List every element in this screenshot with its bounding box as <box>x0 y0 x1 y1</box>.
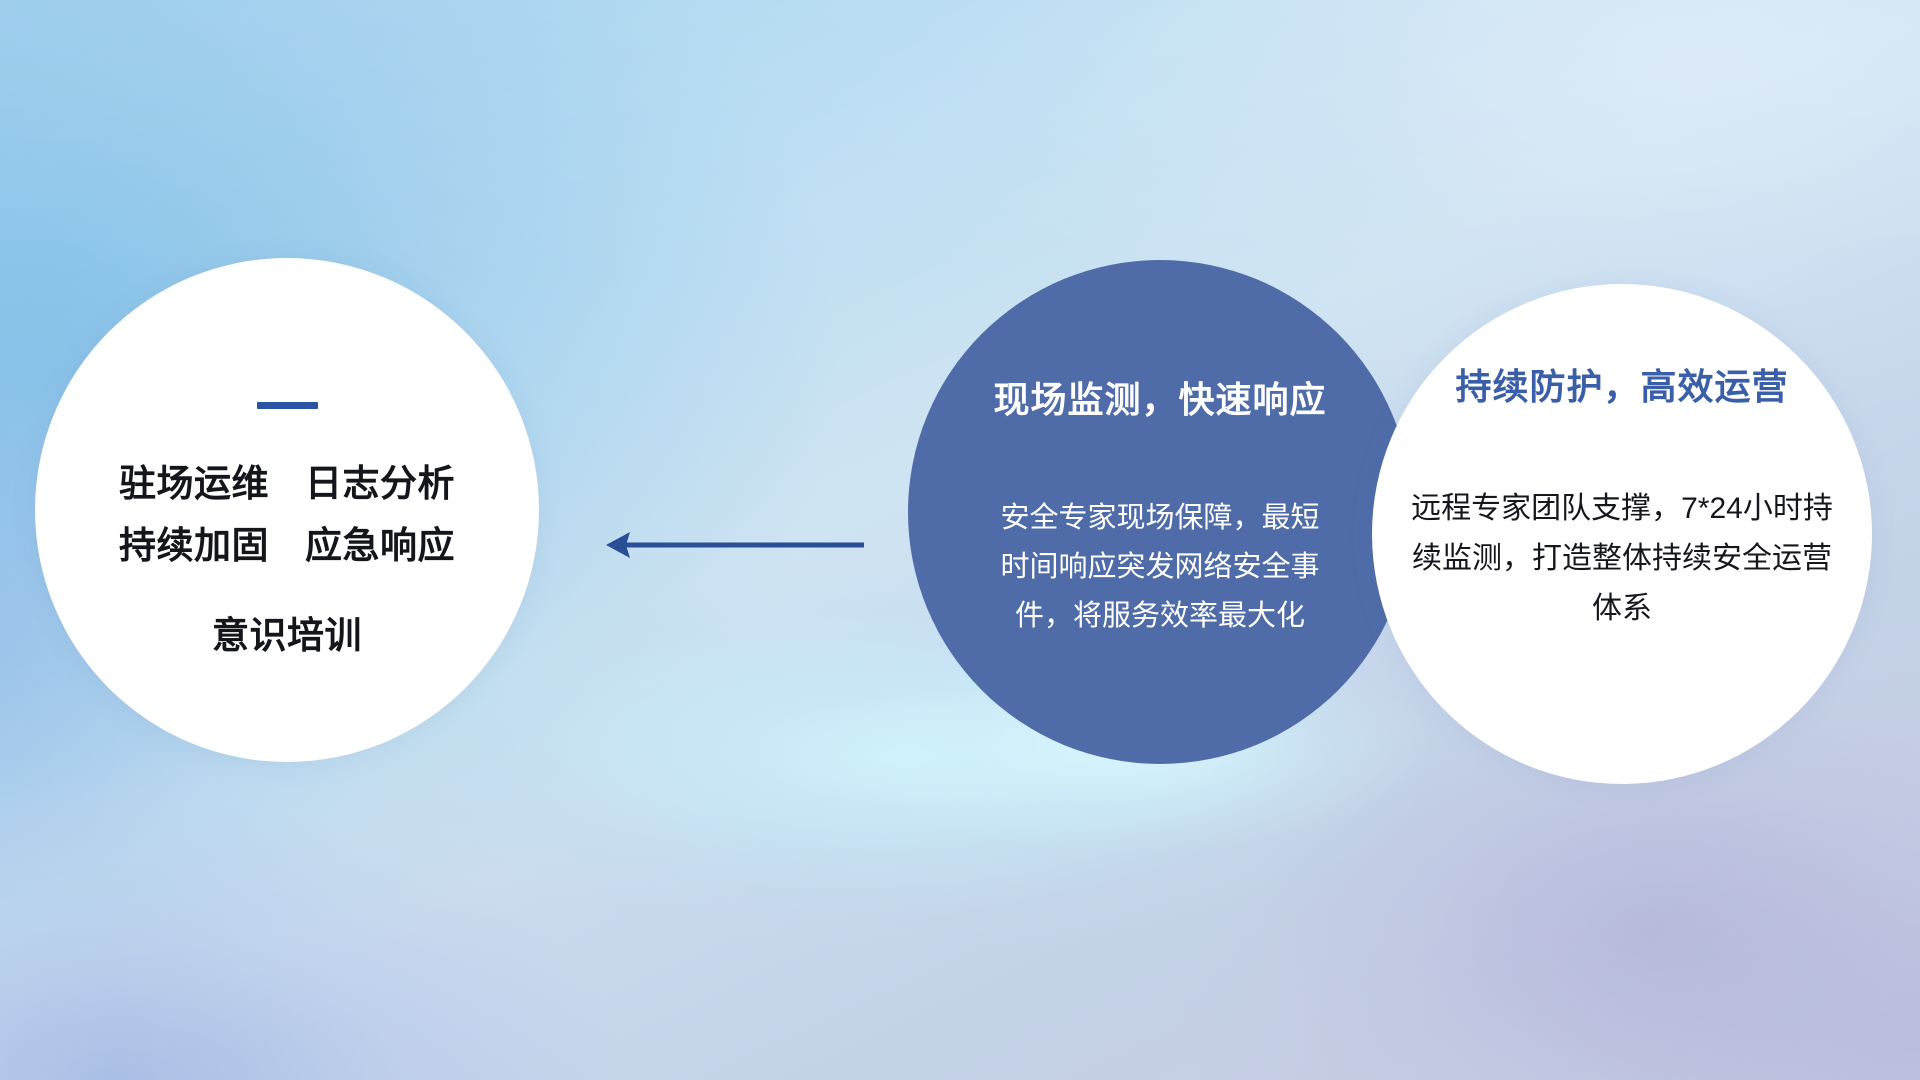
arrow-left-icon <box>600 524 870 566</box>
capability-tag: 意识培训 <box>212 605 362 667</box>
title-divider-dash <box>257 402 318 409</box>
capability-tag: 应急响应 <box>305 515 455 577</box>
remote-operations-content: 持续防护，高效运营 远程专家团队支撑，7*24小时持续监测，打造整体持续安全运营… <box>1372 284 1872 784</box>
onsite-monitoring-title: 现场监测，快速响应 <box>993 371 1326 423</box>
tag-spacer <box>269 453 305 515</box>
capability-tag-row: 持续加固 应急响应 <box>119 515 455 577</box>
capability-tag: 日志分析 <box>305 453 455 515</box>
remote-operations-body: 远程专家团队支撑，7*24小时持续监测，打造整体持续安全运营体系 <box>1400 484 1844 634</box>
remote-operations-title: 持续防护，高效运营 <box>1455 358 1788 410</box>
onsite-monitoring-content: 现场监测，快速响应 安全专家现场保障，最短时间响应突发网络安全事件，将服务效率最… <box>908 260 1412 764</box>
capability-tag-row: 意识培训 <box>212 605 362 667</box>
tag-spacer <box>269 515 305 577</box>
capability-tag: 驻场运维 <box>119 453 269 515</box>
slide-canvas: 现场监测，快速响应 安全专家现场保障，最短时间响应突发网络安全事件，将服务效率最… <box>0 0 1920 1080</box>
capabilities-content: 驻场运维 日志分析 持续加固 应急响应 意识培训 <box>35 258 539 762</box>
capability-tag-row: 驻场运维 日志分析 <box>119 453 455 515</box>
onsite-monitoring-body: 安全专家现场保障，最短时间响应突发网络安全事件，将服务效率最大化 <box>993 494 1327 641</box>
capability-tag-list: 驻场运维 日志分析 持续加固 应急响应 意识培训 <box>35 453 539 667</box>
capability-tag: 持续加固 <box>119 515 269 577</box>
